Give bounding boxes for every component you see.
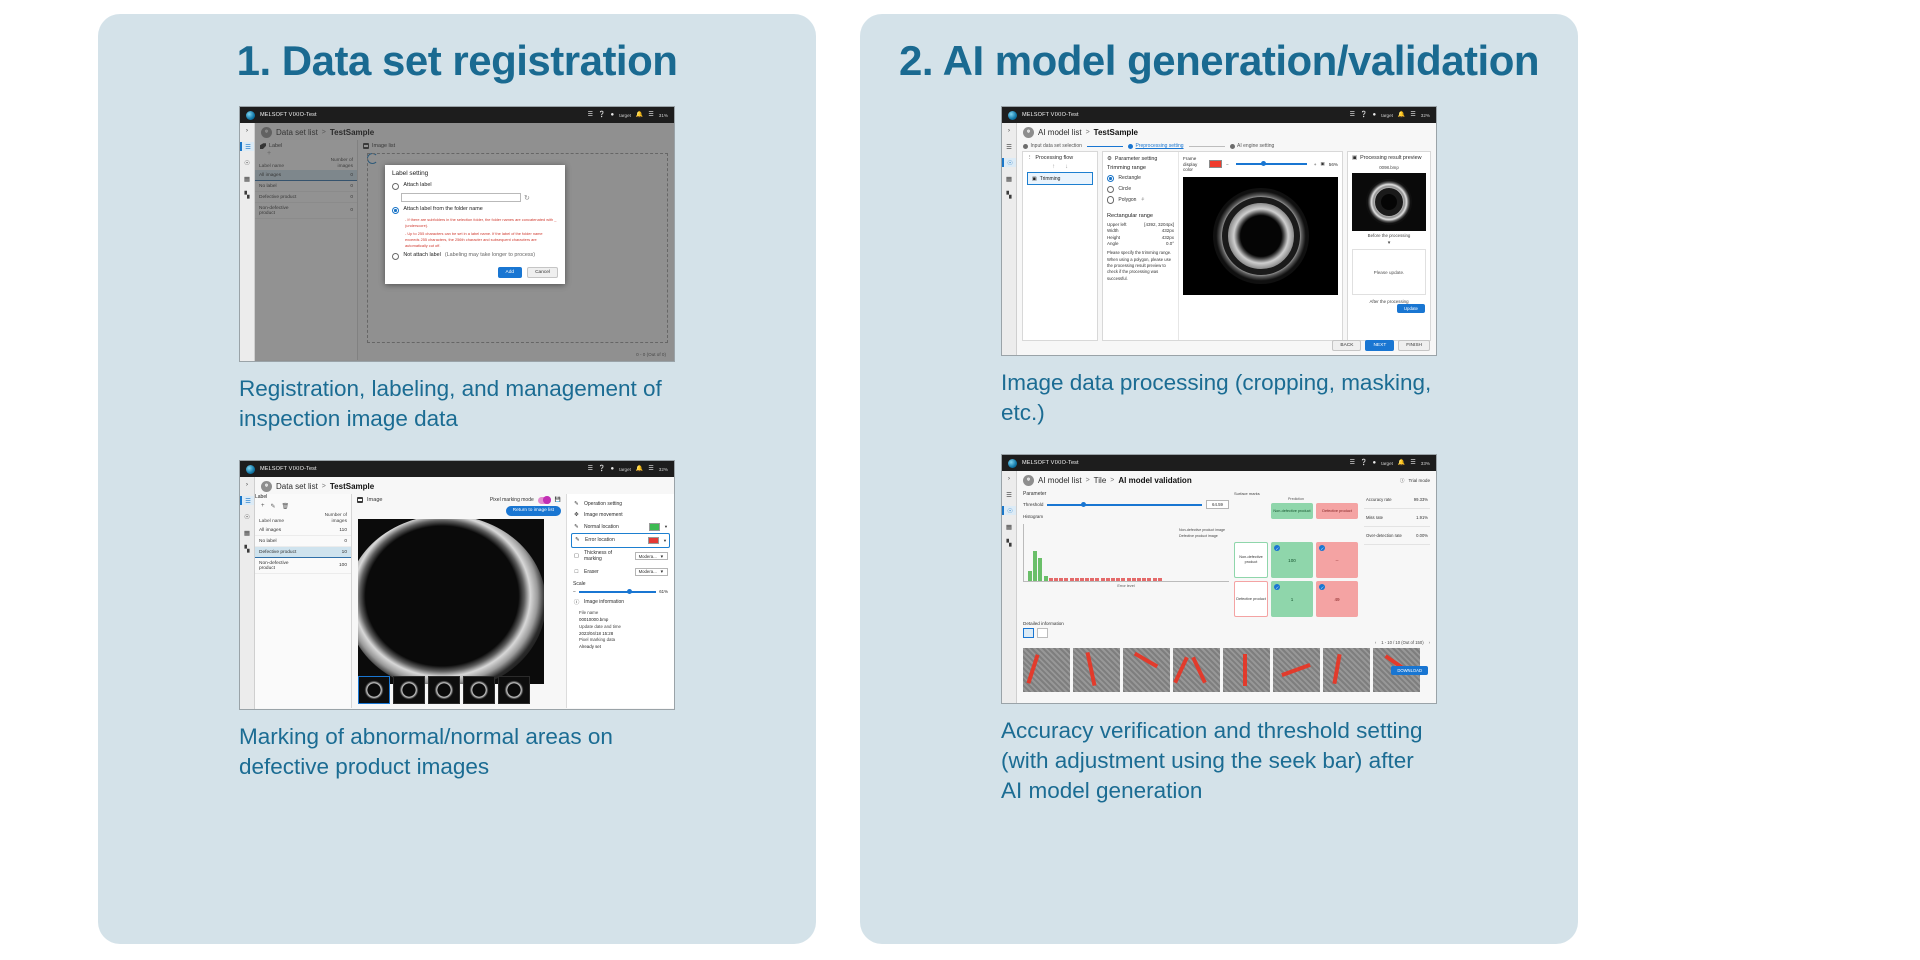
breadcrumb: AI model list > TestSample [1017, 123, 1436, 140]
bell-icon[interactable]: 🔔 [636, 466, 643, 472]
color-swatch[interactable] [648, 537, 659, 545]
result-cell[interactable] [1023, 648, 1070, 692]
rail-archive-icon[interactable]: ▦ [1004, 174, 1014, 183]
chevron-down-icon: ▼ [660, 554, 664, 559]
radio-attach-from-folder[interactable]: Attach label from the folder name [392, 206, 558, 214]
tool-eraser[interactable]: □ Eraser Modera... ▼ [571, 565, 670, 578]
rail-stats-icon[interactable]: ▚ [1004, 538, 1014, 547]
app-logo-icon [246, 111, 255, 120]
step-dot-icon [1023, 144, 1028, 149]
bell-icon[interactable]: 🔔 [1398, 460, 1405, 466]
rect-row: Upper left [4392, 3204px] [1107, 222, 1174, 227]
caption-3: Image data processing (cropping, masking… [1001, 368, 1437, 428]
breadcrumb-root[interactable]: AI model list [1038, 128, 1082, 137]
preview-icon: ▣ [1352, 155, 1357, 161]
surface-marks-column: Surface marks Prediction Non-defective p… [1234, 491, 1430, 617]
arrow-down-icon: ▼ [1348, 240, 1430, 245]
breadcrumb-root[interactable]: AI model list [1038, 476, 1082, 485]
check-icon: ✓ [1274, 545, 1280, 551]
metric-row: Over-detection rate 0.00% [1364, 527, 1430, 545]
update-button[interactable]: Update [1397, 304, 1425, 313]
matrix-value: -- [1335, 558, 1338, 563]
edit-icon[interactable]: ✎ [271, 503, 276, 510]
tool-label: Image movement [584, 512, 623, 518]
app-body: › ☰ ☉ ▦ ▚ AI model list > TestSample [1002, 123, 1436, 355]
app-logo-icon [246, 465, 255, 474]
label-table: Label name Number of images All images 1… [255, 512, 351, 574]
metric-value: 0.00% [1416, 533, 1428, 538]
label-tools: + ✎ 🗑 [255, 500, 351, 512]
app-body: › ☰ ☉ ▦ ▚ AI model list > Tile > [1002, 471, 1436, 703]
move-down-icon[interactable]: ↓ [1065, 164, 1068, 170]
download-button[interactable]: DOWNLOAD [1391, 666, 1428, 675]
col-label-name: Label name [255, 512, 307, 525]
trial-mode-indicator: ⓘ Trial mode [1400, 478, 1430, 484]
next-page-icon[interactable]: › [1429, 640, 1430, 645]
trimming-icon: ▣ [1032, 176, 1037, 182]
matrix-cell[interactable]: ✓-- [1316, 542, 1358, 578]
rect-value: [4392, 3204px] [1144, 222, 1174, 227]
rail-stats-icon[interactable]: ▚ [1004, 190, 1014, 199]
image-icon [357, 497, 363, 503]
breadcrumb-mid[interactable]: Tile [1094, 476, 1107, 485]
main-content: AI model list > TestSample Input data se… [1017, 123, 1436, 355]
inference-result-strip [1017, 645, 1436, 692]
zoom-pct: 32% [1421, 113, 1430, 118]
label-name-input[interactable] [401, 193, 521, 202]
preview-before-image [1352, 173, 1426, 231]
left-rail: › ☰ ☉ ▦ ▚ [240, 477, 255, 709]
trimming-preview-column: Frame display color − + ▣ 56% [1179, 152, 1342, 340]
slider-thumb [1261, 161, 1266, 166]
row-count: 0 [307, 536, 351, 547]
select-value: Modera... [639, 569, 657, 574]
editor-topbar: Image Pixel marking mode 💾 [352, 494, 566, 504]
trimming-hint: Please specify the trimming range. When … [1107, 250, 1174, 281]
trimming-range-column: ⚙ Parameter setting Trimming range Recta… [1103, 152, 1179, 340]
info-value: Already set [579, 644, 601, 649]
pencil-icon: ✎ [573, 501, 580, 507]
help-icon[interactable]: ❔ [598, 112, 605, 118]
tool-image-movement[interactable]: ✥ Image movement [571, 509, 670, 520]
user-icon[interactable]: ● [611, 466, 615, 472]
rail-model-icon[interactable]: ☉ [1002, 158, 1016, 167]
app-body: › ☰ ☉ ▦ ▚ Data set list > TestSample [240, 123, 674, 361]
app-logo-icon [1008, 459, 1017, 468]
select-value: Modera... [639, 554, 657, 559]
metric-label: Miss rate [1366, 515, 1383, 520]
history-icon[interactable]: ↻ [524, 194, 530, 202]
shape-circle[interactable]: Circle [1107, 185, 1174, 193]
app-window-ai-model-validation: MELSOFT VIXIO-Test ☰ ❔ ● target 🔔 ☰ 33% … [1001, 454, 1437, 704]
update-message: Please update. [1352, 249, 1426, 295]
dialog-note-2: - Up to 255 characters can be set in a l… [405, 231, 558, 248]
user-icon[interactable]: ● [1373, 112, 1377, 118]
check-icon: ✓ [1274, 584, 1280, 590]
menu-icon[interactable]: ☰ [648, 466, 653, 472]
fit-icon[interactable]: ▣ [1320, 161, 1324, 167]
image-canvas[interactable] [358, 519, 544, 684]
metrics-list: Accuracy rate 99.33% Miss rate 1.91% Ove… [1364, 491, 1430, 617]
avatar [1023, 127, 1034, 138]
thumbnail-item[interactable] [498, 676, 530, 704]
rect-value: 432px [1162, 228, 1174, 233]
shape-polygon[interactable]: Polygon ⚘ [1107, 196, 1174, 204]
chevron-down-icon[interactable]: ▼ [664, 524, 668, 529]
toggle-switch[interactable] [538, 497, 551, 504]
titlebar: MELSOFT VIXIO-Test ☰ ❔ ● target 🔔 ☰ 32% [1002, 107, 1436, 123]
info-icon: ⓘ [573, 598, 580, 606]
zoom-pct: 33% [1421, 461, 1430, 466]
rail-stats-icon[interactable]: ▚ [242, 190, 252, 199]
app-title: MELSOFT VIXIO-Test [260, 466, 317, 472]
rail-archive-icon[interactable]: ▦ [1004, 522, 1014, 531]
wizard-steps: Input data set selection Preprocessing s… [1017, 140, 1436, 151]
col-number-of-images: Number of images [307, 512, 351, 525]
main-content: Data set list > TestSample Label + [255, 123, 674, 361]
threshold-value[interactable]: 64.59 [1206, 500, 1229, 509]
row-label: Non-defective product [255, 558, 307, 574]
threshold-slider[interactable] [1047, 504, 1202, 506]
app-window-pixel-marking: MELSOFT VIXIO-Test ☰ ❔ ● target 🔔 ☰ 32% … [239, 460, 675, 710]
main-content: AI model list > Tile > AI model validati… [1017, 471, 1436, 703]
tab-list-view[interactable] [1037, 628, 1048, 638]
color-swatch[interactable] [649, 523, 660, 531]
list-icon[interactable]: ☰ [588, 112, 593, 118]
shape-label: Polygon [1118, 197, 1136, 203]
view-mode-tabs [1017, 626, 1436, 638]
parameter-title: Parameter [1023, 491, 1229, 497]
panel-title-1: 1. Data set registration [98, 14, 816, 84]
help-icon[interactable]: ❔ [1360, 112, 1367, 118]
thickness-icon: ▢ [573, 553, 580, 559]
radio-attach-label[interactable]: Attach label [392, 182, 558, 190]
caption-1: Registration, labeling, and management o… [239, 374, 675, 434]
result-cell[interactable] [1223, 648, 1270, 692]
save-icon[interactable]: 💾 [555, 497, 561, 503]
polygon-tool-icon[interactable]: ⚘ [1140, 197, 1144, 203]
surface-marks-title: Surface marks [1234, 491, 1358, 496]
result-cell[interactable] [1073, 648, 1120, 692]
finish-button[interactable]: FINISH [1398, 340, 1430, 351]
matrix-cell[interactable]: ✓49 [1316, 581, 1358, 617]
bell-icon[interactable]: 🔔 [636, 112, 643, 118]
rail-expand-icon[interactable]: › [242, 480, 252, 489]
screenshot-1-wrap: MELSOFT VIXIO-Test ☰ ❔ ● target 🔔 ☰ 31% … [239, 106, 675, 434]
app-window-ai-model-preprocessing: MELSOFT VIXIO-Test ☰ ❔ ● target 🔔 ☰ 32% … [1001, 106, 1437, 356]
matrix-col-header: Non-defective product [1271, 503, 1313, 519]
list-icon[interactable]: ☰ [1350, 460, 1355, 466]
tool-error-location[interactable]: ✎ Error location ▼ [571, 533, 670, 548]
rail-expand-icon[interactable]: › [1004, 474, 1014, 483]
table-row[interactable]: Defective product 10 [255, 547, 351, 558]
result-cell[interactable] [1123, 648, 1170, 692]
move-up-icon[interactable]: ↑ [1052, 164, 1055, 170]
rail-expand-icon[interactable]: › [1004, 126, 1014, 135]
rail-dataset-icon[interactable]: ☰ [240, 496, 254, 505]
table-row[interactable]: All images 110 [255, 525, 351, 536]
rail-archive-icon[interactable]: ▦ [242, 174, 252, 183]
next-button[interactable]: NEXT [1365, 340, 1394, 351]
screenshot-2-wrap: MELSOFT VIXIO-Test ☰ ❔ ● target 🔔 ☰ 32% … [239, 460, 675, 782]
radio-icon [392, 183, 399, 190]
chevron-down-icon[interactable]: ▼ [663, 538, 667, 543]
before-processing-label: Before the processing [1348, 233, 1430, 238]
pixel-marking-mode-toggle[interactable]: Pixel marking mode 💾 [490, 497, 561, 504]
breadcrumb-current: TestSample [1094, 128, 1138, 137]
scale-value: 61% [659, 589, 668, 594]
breadcrumb-current: TestSample [330, 482, 374, 491]
screenshot-4-wrap: MELSOFT VIXIO-Test ☰ ❔ ● target 🔔 ☰ 33% … [1001, 454, 1437, 806]
infographic-stage: 1. Data set registration MELSOFT VIXIO-T… [0, 0, 1920, 960]
step-ai-engine-setting[interactable]: AI engine setting [1230, 143, 1275, 149]
breadcrumb-separator: > [322, 483, 326, 490]
check-icon: ✓ [1319, 545, 1325, 551]
menu-icon[interactable]: ☰ [1410, 460, 1415, 466]
wizard-nav: BACK NEXT FINISH [1332, 340, 1430, 351]
row-label: No label [255, 536, 307, 547]
scale-slider[interactable]: − 61% [571, 587, 670, 595]
pagination: ‹ 1 - 10 / 10 (Out of 150) › [1017, 638, 1436, 645]
row-count: 100 [307, 558, 351, 574]
tool-thickness[interactable]: ▢ Thickness of marking Modera... ▼ [571, 548, 670, 565]
flow-item-trimming[interactable]: ▣ Trimming [1027, 172, 1093, 185]
step-input-data-set-selection[interactable]: Input data set selection [1023, 143, 1082, 149]
delete-icon[interactable]: 🗑 [282, 503, 290, 510]
cancel-button[interactable]: Cancel [527, 267, 558, 278]
matrix-cell[interactable]: ✓100 [1271, 542, 1313, 578]
tool-label: Eraser [584, 569, 599, 575]
rail-dataset-icon[interactable]: ☰ [1004, 490, 1014, 499]
slider-thumb [1081, 502, 1086, 507]
toggle-label: Pixel marking mode [490, 497, 534, 503]
titlebar: MELSOFT VIXIO-Test ☰ ❔ ● target 🔔 ☰ 31% [240, 107, 674, 123]
app-window-dataset-label: MELSOFT VIXIO-Test ☰ ❔ ● target 🔔 ☰ 31% … [239, 106, 675, 362]
metric-label: Accuracy rate [1366, 497, 1392, 502]
card-title: Parameter setting [1115, 156, 1158, 162]
radio-note: (Labeling may take longer to process) [445, 252, 535, 258]
trimming-range-title: Trimming range [1107, 165, 1174, 171]
histogram-title: Histogram [1023, 514, 1229, 519]
frame-color-row: Frame display color − + ▣ 56% [1183, 156, 1338, 173]
radio-icon [392, 207, 399, 214]
metric-row: Accuracy rate 99.33% [1364, 491, 1430, 509]
label-setting-dialog: Label setting Attach label ↻ [385, 165, 565, 284]
zoom-pct: 31% [659, 113, 668, 118]
rail-stats-icon[interactable]: ▚ [242, 544, 252, 553]
pen-icon: ✎ [574, 537, 581, 543]
rail-dataset-icon[interactable]: ☰ [1004, 142, 1014, 151]
rail-model-icon[interactable]: ☉ [242, 158, 252, 167]
main-content: Data set list > TestSample Label [255, 477, 674, 709]
thickness-select[interactable]: Modera... ▼ [635, 552, 668, 560]
workpiece-image [1213, 188, 1309, 284]
rail-model-icon[interactable]: ☉ [1002, 506, 1016, 515]
titlebar: MELSOFT VIXIO-Test ☰ ❔ ● target 🔔 ☰ 33% [1002, 455, 1436, 471]
user-name: target [1381, 113, 1393, 118]
shape-label: Circle [1118, 186, 1131, 192]
rect-key: Height [1107, 235, 1120, 240]
metric-value: 99.33% [1414, 497, 1428, 502]
rect-row: Angle 0.0° [1107, 241, 1174, 246]
add-button[interactable]: Add [498, 267, 523, 278]
prediction-label: Prediction [1234, 497, 1358, 501]
matrix-value: 49 [1334, 597, 1339, 602]
row-label: Defective product [255, 547, 307, 558]
panel-title: Operation setting [584, 501, 622, 507]
settings-icon: ⚙ [1107, 156, 1112, 162]
left-rail: › ☰ ☉ ▦ ▚ [1002, 471, 1017, 703]
matrix-grid: Non-defective product Defective product … [1234, 503, 1358, 617]
step-preprocessing-setting[interactable]: Preprocessing setting [1128, 143, 1184, 149]
titlebar-actions: ☰ ❔ ● target 🔔 ☰ 31% [588, 112, 668, 118]
rail-archive-icon[interactable]: ▦ [242, 528, 252, 537]
tool-label: Thickness of marking [584, 550, 631, 562]
minus-icon[interactable]: − [1226, 162, 1229, 167]
threshold-label: Threshold [1023, 502, 1043, 507]
histogram-xlabel: Error level [1023, 584, 1229, 588]
breadcrumb-current: AI model validation [1118, 476, 1191, 485]
slider-thumb [627, 589, 632, 594]
slider-track[interactable] [579, 591, 656, 593]
result-cell[interactable] [1323, 648, 1370, 692]
frame-color-label: Frame display color [1183, 156, 1205, 173]
thumbnail-item[interactable] [428, 676, 460, 704]
radio-icon [392, 253, 399, 260]
parameter-column: Parameter Threshold 64.59 Histogram [1023, 491, 1229, 617]
thumbnail-item[interactable] [358, 676, 390, 704]
dialog-note-1: - If there are subfolders in the selecti… [405, 217, 558, 228]
step-connector [1189, 146, 1225, 147]
thumbnail-item[interactable] [393, 676, 425, 704]
list-icon[interactable]: ☰ [588, 466, 593, 472]
titlebar-actions: ☰ ❔ ● target 🔔 ☰ 32% [1350, 112, 1430, 118]
rect-key: Angle [1107, 241, 1119, 246]
help-icon[interactable]: ❔ [1360, 460, 1367, 466]
user-icon[interactable]: ● [1373, 460, 1377, 466]
menu-icon[interactable]: ☰ [648, 112, 653, 118]
radio-label: Attach label [403, 182, 431, 188]
rect-row: Height 432px [1107, 235, 1174, 240]
matrix-cell[interactable]: ✓1 [1271, 581, 1313, 617]
zoom-slider[interactable] [1236, 163, 1307, 165]
info-key: File name [579, 610, 668, 617]
trial-icon: ⓘ [1400, 478, 1405, 484]
info-value: 00010000.bmp [579, 617, 608, 622]
step-connector [1087, 146, 1123, 147]
radio-not-attach-label[interactable]: Not attach label (Labeling may take long… [392, 252, 558, 260]
tool-normal-location[interactable]: ✎ Normal location ▼ [571, 520, 670, 533]
tool-label: Error location [585, 537, 615, 543]
breadcrumb-root[interactable]: Data set list [276, 482, 318, 491]
metric-value: 1.91% [1416, 515, 1428, 520]
matrix-value: 1 [1291, 597, 1294, 602]
table-row[interactable]: No label 0 [255, 536, 351, 547]
return-to-image-list-button[interactable]: Return to image list [506, 506, 561, 516]
result-cell[interactable] [1173, 648, 1220, 692]
shape-rectangle[interactable]: Rectangle [1107, 174, 1174, 182]
tool-label: Normal location [584, 524, 619, 530]
avatar [1023, 475, 1034, 486]
eraser-icon: □ [573, 569, 580, 575]
rect-value: 432px [1162, 235, 1174, 240]
prev-page-icon[interactable]: ‹ [1375, 640, 1376, 645]
inspection-image [358, 519, 544, 684]
radio-icon [1107, 175, 1114, 182]
rail-dataset-icon[interactable]: ☰ [240, 142, 254, 151]
confusion-matrix: Surface marks Prediction Non-defective p… [1234, 491, 1358, 617]
rect-key: Upper left [1107, 222, 1127, 227]
histogram-legend: Non-defective product image Defective pr… [1179, 528, 1225, 540]
section-title: Image information [584, 599, 624, 605]
user-icon[interactable]: ● [611, 112, 615, 118]
left-rail: › ☰ ☉ ▦ ▚ [240, 123, 255, 361]
titlebar-actions: ☰ ❔ ● target 🔔 ☰ 32% [588, 466, 668, 472]
result-cell[interactable] [1273, 648, 1320, 692]
plus-icon[interactable]: + [1314, 162, 1317, 167]
pen-icon: ✎ [573, 524, 580, 530]
avatar [261, 481, 272, 492]
trial-mode-label: Trial mode [1408, 478, 1430, 483]
app-logo-icon [1008, 111, 1017, 120]
menu-icon[interactable]: ☰ [1410, 112, 1415, 118]
tab-grid-view[interactable] [1023, 628, 1034, 638]
card-title: Processing result preview [1360, 155, 1421, 161]
user-name: target [619, 113, 631, 118]
list-icon[interactable]: ☰ [1350, 112, 1355, 118]
info-key: Update date and time [579, 624, 668, 631]
thumbnail-item[interactable] [463, 676, 495, 704]
step-label: Preprocessing setting [1135, 143, 1183, 149]
radio-icon [1107, 186, 1114, 193]
image-editor-pane: Image Pixel marking mode 💾 Return to ima… [352, 494, 566, 708]
eraser-select[interactable]: Modera... ▼ [635, 568, 668, 576]
threshold-row: Threshold 64.59 [1023, 500, 1229, 509]
shape-label: Rectangle [1118, 175, 1141, 181]
image-pane-title: Image [367, 497, 383, 503]
flow-reorder-buttons: ↑ ↓ [1023, 163, 1097, 172]
frame-color-chip[interactable] [1209, 160, 1222, 168]
trimming-image-canvas[interactable] [1183, 177, 1338, 295]
rail-model-icon[interactable]: ☉ [242, 512, 252, 521]
screenshot-3-wrap: MELSOFT VIXIO-Test ☰ ❔ ● target 🔔 ☰ 32% … [1001, 106, 1437, 428]
breadcrumb: Data set list > TestSample [255, 477, 674, 494]
info-key: Pixel marking data [579, 637, 668, 644]
breadcrumb-separator: > [1086, 129, 1090, 136]
add-icon[interactable]: + [261, 503, 265, 510]
rect-value: 0.0° [1166, 241, 1174, 246]
titlebar: MELSOFT VIXIO-Test ☰ ❔ ● target 🔔 ☰ 32% [240, 461, 674, 477]
table-row[interactable]: Non-defective product 100 [255, 558, 351, 574]
help-icon[interactable]: ❔ [598, 466, 605, 472]
chevron-down-icon: ▼ [660, 569, 664, 574]
rail-expand-icon[interactable]: › [242, 126, 252, 135]
radio-label: Not attach label [403, 252, 440, 258]
move-icon: ✥ [573, 512, 580, 518]
row-label: All images [255, 525, 307, 536]
bell-icon[interactable]: 🔔 [1398, 112, 1405, 118]
minus-icon[interactable]: − [573, 589, 576, 595]
user-name: target [619, 467, 631, 472]
breadcrumb-separator: > [1110, 477, 1114, 484]
pagination-label: 1 - 10 / 10 (Out of 150) [1381, 640, 1423, 645]
back-button[interactable]: BACK [1332, 340, 1361, 351]
dialog-buttons: Add Cancel [392, 267, 558, 278]
flow-icon: ⋮ [1027, 155, 1032, 161]
operation-setting-header: ✎ Operation setting [571, 498, 670, 509]
label-input-row: ↻ [401, 193, 558, 202]
app-body: › ☰ ☉ ▦ ▚ Data set list > TestSample [240, 477, 674, 709]
